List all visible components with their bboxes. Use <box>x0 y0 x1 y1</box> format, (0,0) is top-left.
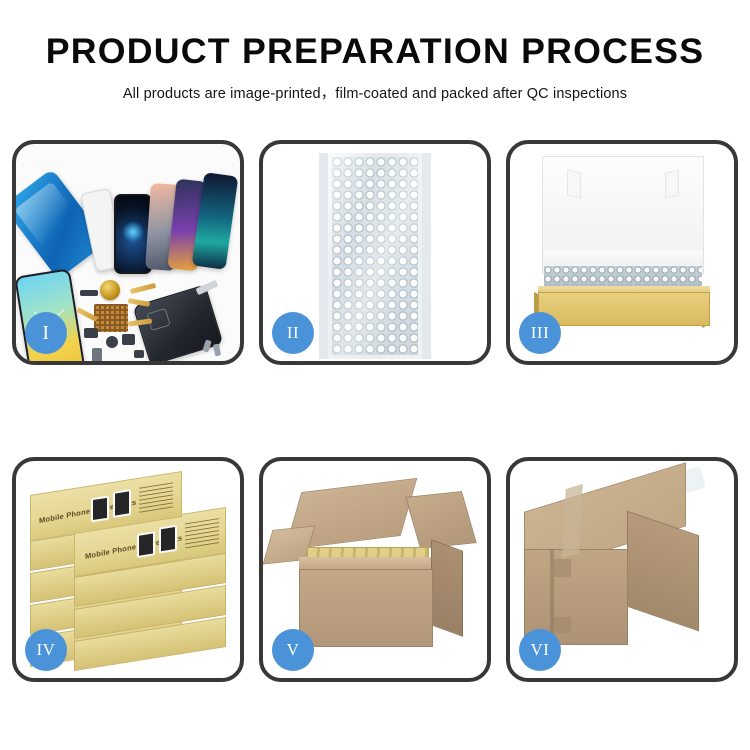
battery-connector-icon <box>92 348 102 361</box>
step-badge-5: V <box>272 629 314 671</box>
screw-icon <box>213 344 221 357</box>
chip-icon <box>80 290 98 296</box>
process-steps-grid: I II <box>12 140 738 682</box>
speaker-icon <box>106 336 118 348</box>
step-panel-4: Mobile Phone Spare Parts Mobile Phone Sp… <box>12 457 244 682</box>
flex-cable-icon <box>130 283 156 294</box>
box-phone-thumbnail <box>113 489 131 518</box>
carton-tab <box>554 617 571 633</box>
gold-coil-icon <box>100 280 120 300</box>
step-badge-1: I <box>25 312 67 354</box>
kraft-inner-box-icon <box>538 292 710 326</box>
step-badge-4: IV <box>25 629 67 671</box>
step-panel-5: V <box>259 457 491 682</box>
page-subtitle: All products are image-printed，film-coat… <box>0 82 750 103</box>
step-panel-2: II <box>259 140 491 365</box>
step-badge-2: II <box>272 312 314 354</box>
carton-tab <box>554 559 571 577</box>
lid-tab-right <box>665 169 679 198</box>
box-spec-lines <box>139 482 173 513</box>
chip-icon <box>84 328 98 338</box>
carton-side-panel <box>431 539 463 637</box>
box-phone-thumbnail <box>91 496 109 523</box>
carton-flap-right <box>405 491 476 549</box>
step-panel-6: VI <box>506 457 738 682</box>
box-phone-thumbnail <box>137 531 155 558</box>
bubble-wrap-pouch-icon <box>319 153 431 359</box>
page-header: PRODUCT PREPARATION PROCESS All products… <box>0 0 750 103</box>
component-grid-icon <box>94 304 128 332</box>
bubble-sheen <box>328 153 422 359</box>
box-spec-lines <box>185 518 219 549</box>
chip-icon <box>122 334 135 345</box>
step-panel-3: III <box>506 140 738 365</box>
open-carton-icon <box>299 569 433 647</box>
product-preparation-page: PRODUCT PREPARATION PROCESS All products… <box>0 0 750 750</box>
step-badge-3: III <box>519 312 561 354</box>
lid-tab-left <box>567 169 581 198</box>
chip-icon <box>134 350 144 358</box>
step-badge-6: VI <box>519 629 561 671</box>
page-title: PRODUCT PREPARATION PROCESS <box>0 34 750 71</box>
step-panel-1: I <box>12 140 244 365</box>
box-phone-thumbnail <box>159 525 177 554</box>
sealed-carton-side <box>627 511 699 632</box>
